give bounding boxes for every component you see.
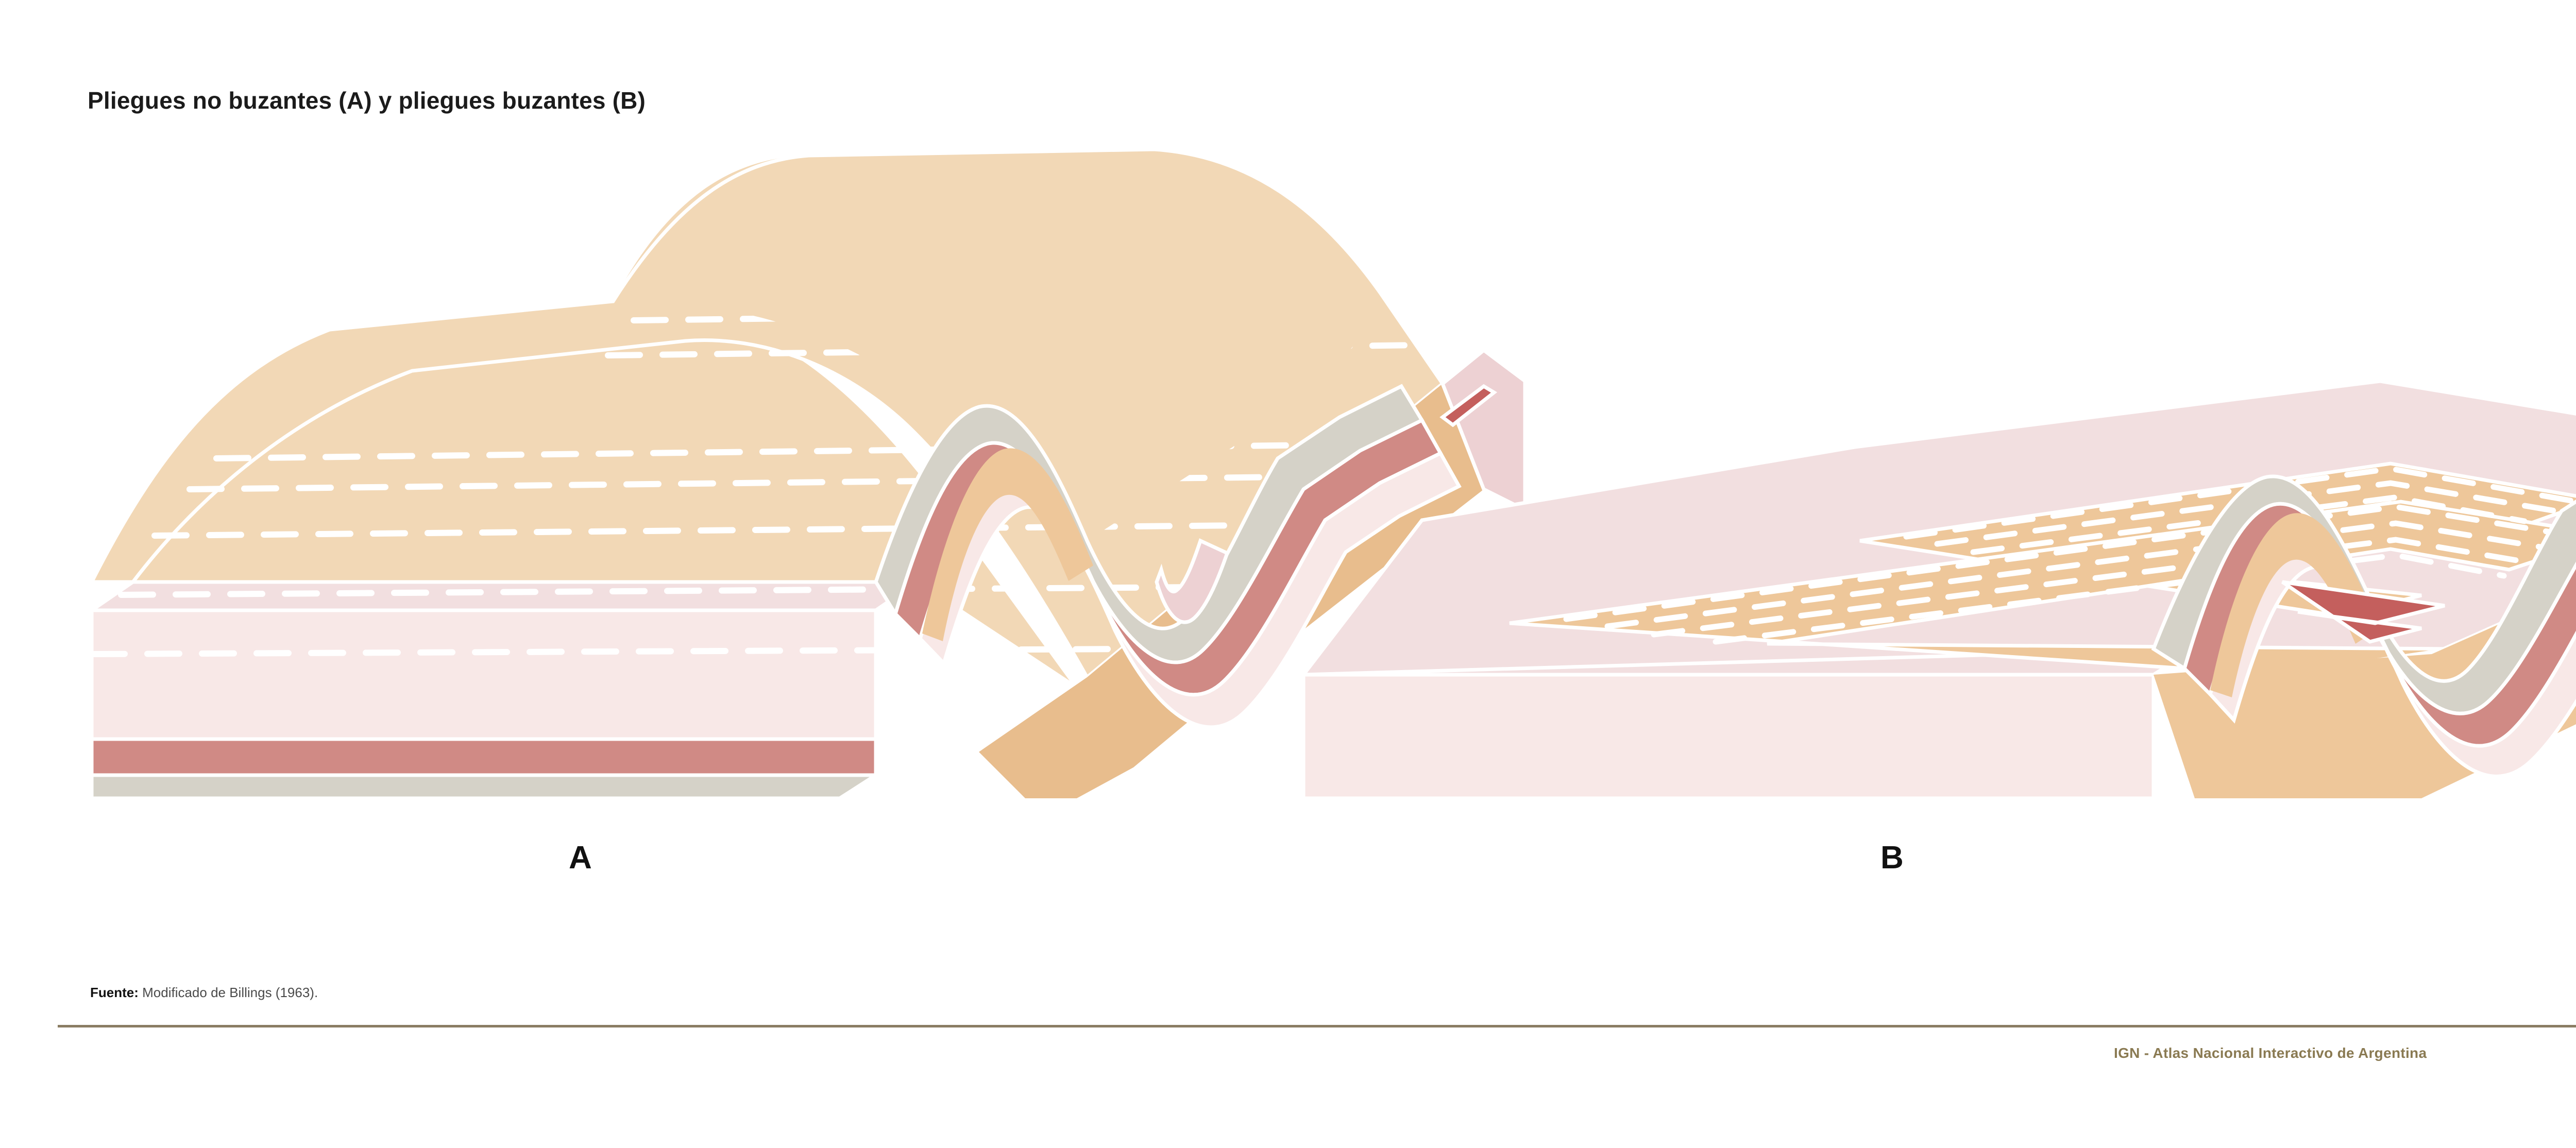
ign-credit: IGN - Atlas Nacional Interactivo de Arge…: [2114, 1045, 2427, 1061]
source-label: Fuente:: [90, 985, 139, 1000]
panel-a-front-pink-bevel: [92, 582, 917, 610]
footer-divider: [58, 1025, 2576, 1027]
panel-label-a: A: [569, 839, 592, 876]
panel-a-front-pink-layer: [92, 610, 876, 739]
figure-page: Pliegues no buzantes (A) y pliegues buza…: [0, 0, 2576, 1148]
source-value: Modificado de Billings (1963).: [139, 985, 318, 1000]
panel-b-front-pink-layer: [1303, 675, 2154, 798]
block-diagram-illustration: [0, 129, 2576, 834]
panel-a-front-red-layer: [92, 739, 876, 775]
panel-label-b: B: [1880, 839, 1904, 876]
source-line: Fuente: Modificado de Billings (1963).: [90, 985, 318, 1001]
page-title: Pliegues no buzantes (A) y pliegues buza…: [88, 87, 646, 114]
panel-a-front-gray-layer: [92, 775, 876, 798]
diagram-stage: [0, 129, 2576, 834]
